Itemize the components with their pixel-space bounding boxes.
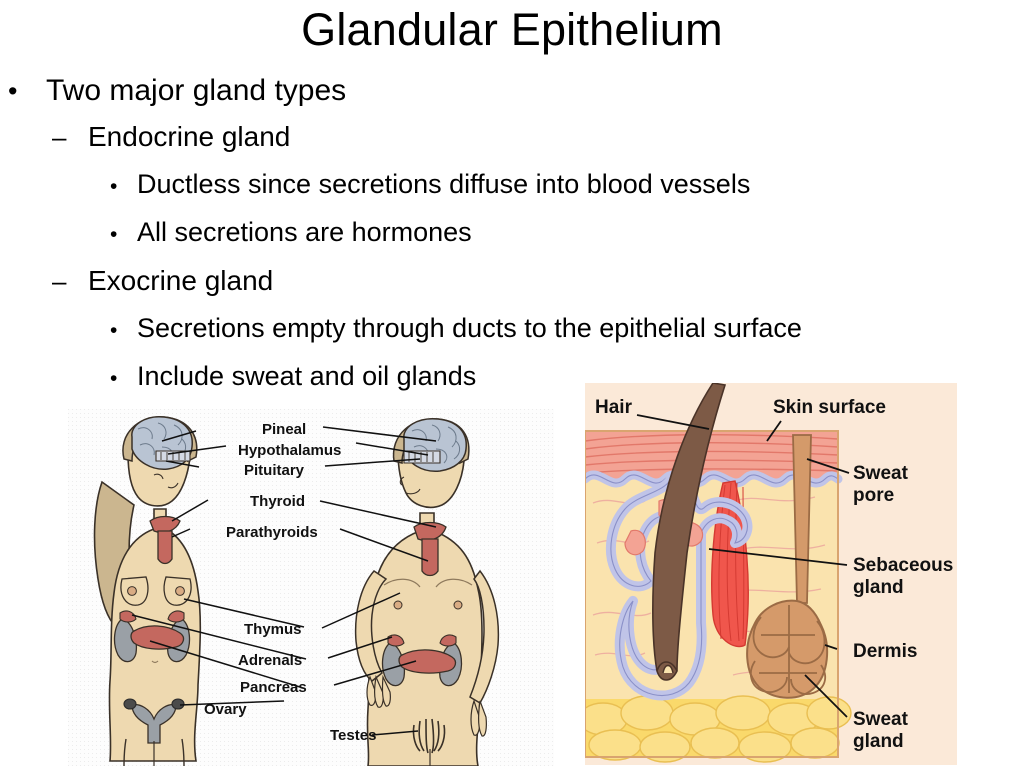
label-parathyroids: Parathyroids (226, 524, 318, 541)
list-item-label: Secretions empty through ducts to the ep… (137, 313, 802, 344)
list-item-label: All secretions are hormones (137, 217, 472, 248)
skin-cross-section-illustration: Hair Skin surface Sweat pore Sebaceous g… (585, 383, 957, 765)
label-sweat-gland-line2: gland (853, 731, 904, 752)
list-item: • Ductless since secretions diffuse into… (0, 169, 1024, 217)
sweat-gland-coil (747, 601, 827, 698)
list-item-label: Exocrine gland (88, 265, 273, 297)
list-item: • Secretions empty through ducts to the … (0, 313, 1024, 361)
list-item-label: Ductless since secretions diffuse into b… (137, 169, 750, 200)
label-pancreas: Pancreas (240, 679, 307, 696)
bullet-marker: • (110, 368, 137, 389)
label-testes: Testes (330, 727, 376, 744)
list-item: • Two major gland types (0, 74, 1024, 121)
bullet-marker: – (52, 268, 88, 294)
label-skin-surface: Skin surface (773, 397, 886, 418)
page-title: Glandular Epithelium (0, 2, 1024, 58)
bullet-marker: • (8, 78, 46, 105)
bullet-marker: – (52, 124, 88, 150)
bullet-marker: • (110, 224, 137, 245)
list-item: – Exocrine gland (0, 265, 1024, 313)
label-ovary: Ovary (204, 701, 247, 718)
endocrine-glands-image: Pineal Hypothalamus Pituitary Thyroid Pa… (68, 409, 554, 766)
label-sebaceous-gland-line1: Sebaceous (853, 555, 953, 576)
bullet-list: • Two major gland types – Endocrine glan… (0, 74, 1024, 409)
label-hair: Hair (595, 397, 633, 418)
list-item: – Endocrine gland (0, 121, 1024, 169)
label-adrenals: Adrenals (238, 652, 302, 669)
list-item-label: Endocrine gland (88, 121, 290, 153)
label-sweat-pore-line2: pore (853, 485, 894, 506)
label-pineal: Pineal (262, 421, 306, 438)
list-item: • All secretions are hormones (0, 217, 1024, 265)
label-hypothalamus: Hypothalamus (238, 442, 341, 459)
bullet-marker: • (110, 176, 137, 197)
label-thyroid: Thyroid (250, 493, 305, 510)
label-sweat-pore-line1: Sweat (853, 463, 909, 484)
list-item-label: Two major gland types (46, 74, 346, 108)
list-item-label: Include sweat and oil glands (137, 361, 476, 392)
label-dermis: Dermis (853, 641, 917, 662)
skin-cross-section-image: Hair Skin surface Sweat pore Sebaceous g… (585, 383, 957, 765)
label-sebaceous-gland-line2: gland (853, 577, 904, 598)
endocrine-glands-illustration: Pineal Hypothalamus Pituitary Thyroid Pa… (68, 409, 554, 766)
label-sweat-gland-line1: Sweat (853, 709, 909, 730)
label-thymus: Thymus (244, 621, 302, 638)
label-pituitary: Pituitary (244, 462, 305, 479)
bullet-marker: • (110, 320, 137, 341)
